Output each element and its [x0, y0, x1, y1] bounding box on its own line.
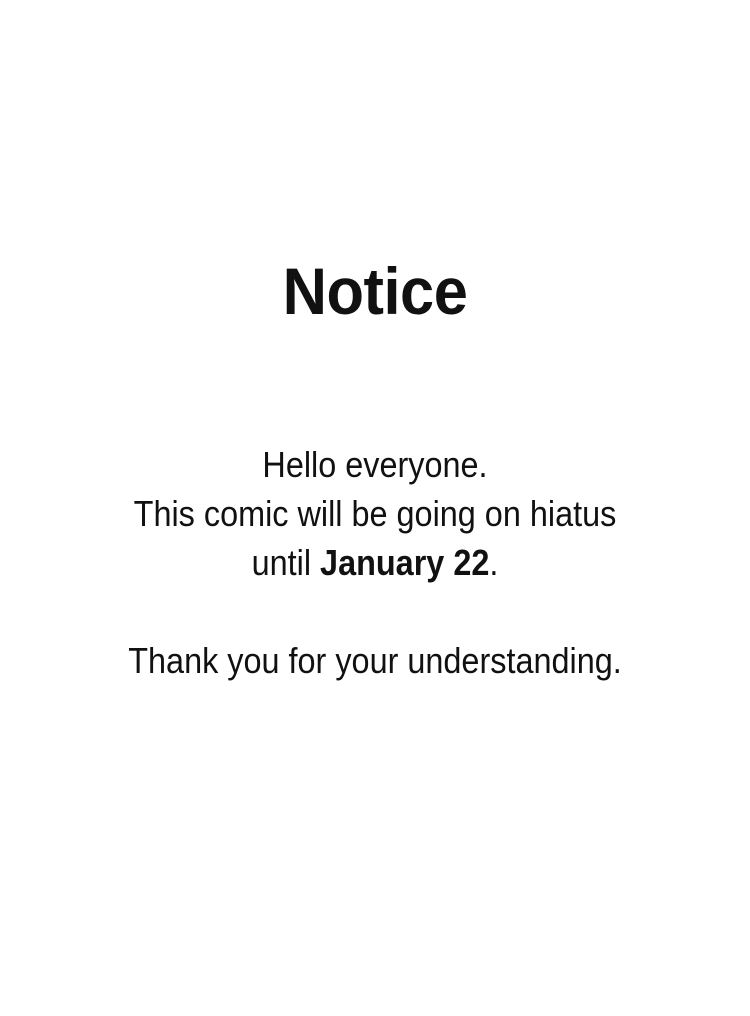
notice-line-hiatus: This comic will be going on hiatus — [38, 489, 713, 538]
return-date-prefix: until — [252, 542, 320, 583]
notice-line-greeting: Hello everyone. — [38, 440, 713, 489]
notice-line-return-date: until January 22. — [38, 538, 713, 587]
return-date-value: January 22 — [320, 542, 489, 583]
notice-page: Notice Hello everyone. This comic will b… — [0, 0, 750, 1016]
page-title: Notice — [26, 255, 724, 327]
return-date-suffix: . — [489, 542, 498, 583]
notice-body: Hello everyone. This comic will be going… — [0, 440, 750, 685]
notice-line-thanks: Thank you for your understanding. — [38, 636, 713, 685]
notice-paragraph-gap — [0, 587, 750, 636]
